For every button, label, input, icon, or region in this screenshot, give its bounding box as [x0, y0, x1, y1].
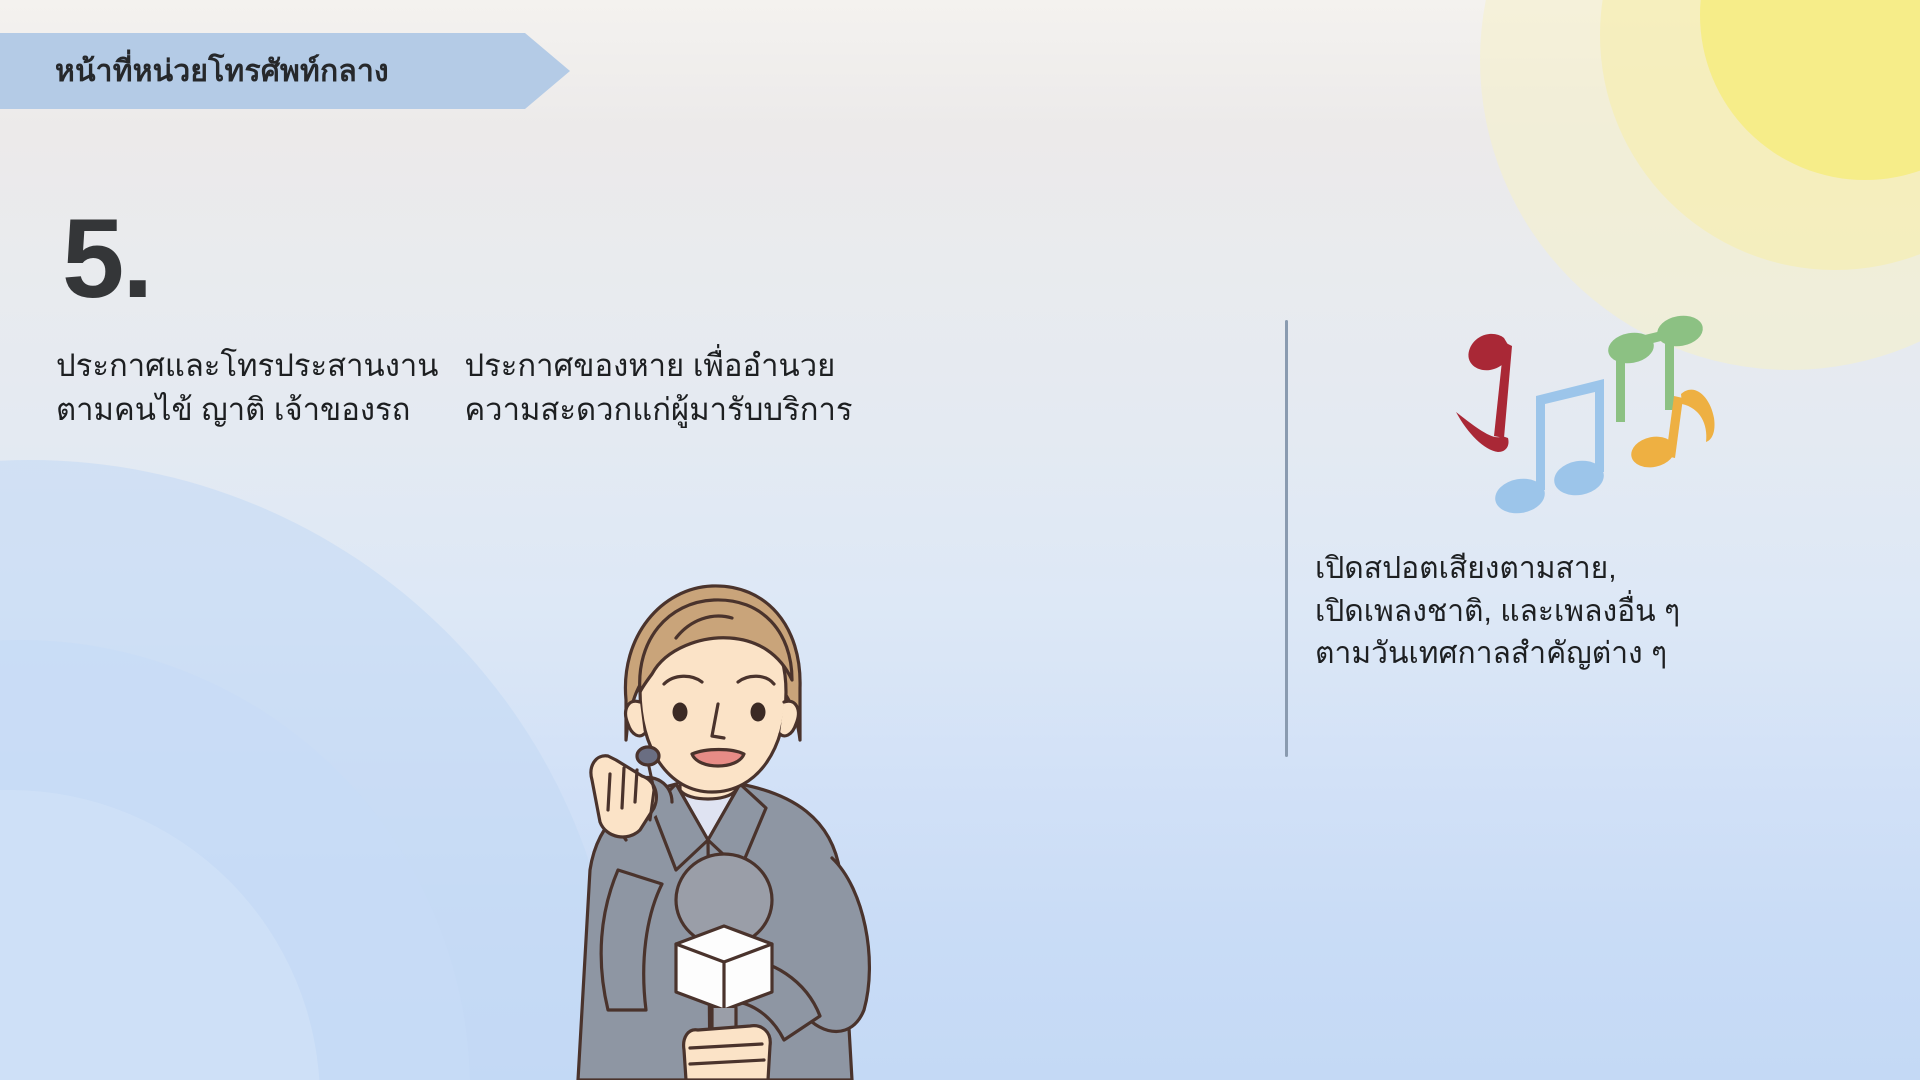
banner-title: หน้าที่หน่วยโทรศัพท์กลาง	[55, 48, 389, 95]
background-arc-middle	[0, 640, 470, 1080]
left-col1-line2: ตามคนไข้ ญาติ เจ้าของรถ	[56, 388, 438, 432]
left-column-2: ประกาศของหาย เพื่ออำนวย ความสะดวกแก่ผู้ม…	[464, 344, 852, 432]
left-col2-line1: ประกาศของหาย เพื่ออำนวย	[464, 344, 852, 388]
music-note-blue	[1492, 379, 1606, 517]
background-arc-inner	[0, 790, 320, 1080]
right-text-block: เปิดสปอตเสียงตามสาย, เปิดเพลงชาติ, และเพ…	[1315, 548, 1680, 676]
music-note-red	[1456, 334, 1512, 452]
right-line-1: เปิดสปอตเสียงตามสาย,	[1315, 548, 1680, 591]
sun-ring-middle	[1600, 0, 1920, 270]
music-notes-illustration	[1432, 300, 1742, 530]
left-col1-line1: ประกาศและโทรประสานงาน	[56, 344, 438, 388]
left-text-block: ประกาศและโทรประสานงาน ตามคนไข้ ญาติ เจ้า…	[56, 344, 853, 432]
left-col2-line2: ความสะดวกแก่ผู้มารับบริการ	[464, 388, 852, 432]
right-line-2: เปิดเพลงชาติ, และเพลงอื่น ๆ	[1315, 591, 1680, 634]
left-column-1: ประกาศและโทรประสานงาน ตามคนไข้ ญาติ เจ้า…	[56, 344, 438, 432]
announcer-with-microphone-illustration	[440, 540, 1000, 1080]
slide-canvas: หน้าที่หน่วยโทรศัพท์กลาง 5. ประกาศและโทร…	[0, 0, 1920, 1080]
right-line-3: ตามวันเทศกาลสำคัญต่าง ๆ	[1315, 633, 1680, 676]
step-number: 5.	[62, 203, 151, 315]
sun-ring-inner	[1700, 0, 1920, 180]
header-banner: หน้าที่หน่วยโทรศัพท์กลาง	[0, 33, 570, 109]
vertical-divider	[1285, 320, 1288, 757]
